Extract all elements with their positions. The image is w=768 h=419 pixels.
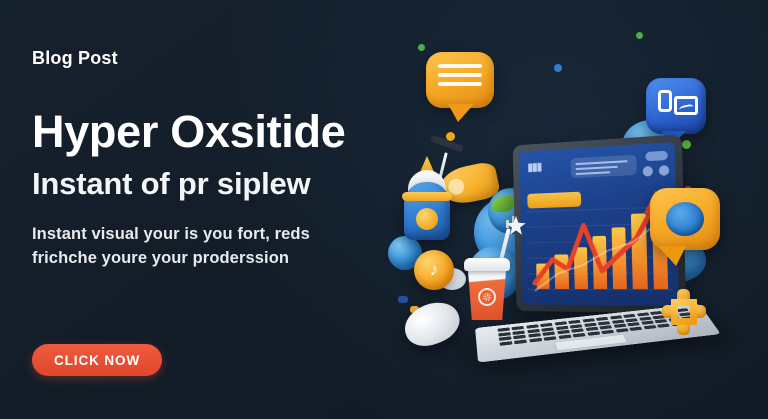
rocket-band <box>402 192 452 201</box>
coin-icon: ♪ <box>414 250 454 290</box>
confetti-dot <box>418 44 425 51</box>
coffee-cup-lid <box>464 258 510 271</box>
trend-polyline <box>533 203 658 283</box>
computer-mouse <box>399 295 466 353</box>
confetti-dot <box>398 296 408 303</box>
body-text: Instant visual your is you fort, reds fr… <box>32 223 402 271</box>
body-line-2: frichche youre your proderssion <box>32 249 289 267</box>
hero-illustration: ♪ ▮▮▮ <box>382 0 768 419</box>
body-line-1: Instant visual your is you fort, reds <box>32 225 310 243</box>
page-title: Hyper Oxsitide <box>32 108 402 155</box>
confetti-dot <box>554 64 562 72</box>
confetti-dot <box>636 32 643 39</box>
speech-lines-icon <box>438 64 482 91</box>
chart-card-icon <box>674 96 698 115</box>
dashboard-icon[interactable] <box>675 164 679 175</box>
click-now-button[interactable]: CLICK NOW <box>32 344 162 376</box>
subtitle: Instant of pr siplew <box>32 167 402 201</box>
phone-icon <box>658 90 672 112</box>
gear-ring <box>671 299 697 325</box>
coffee-cup-logo-icon <box>478 288 496 306</box>
copy-block: Blog Post Hyper Oxsitide Instant of pr s… <box>32 48 402 271</box>
promo-banner: Blog Post Hyper Oxsitide Instant of pr s… <box>0 0 768 419</box>
rocket-porthole <box>416 208 438 230</box>
eyebrow-label: Blog Post <box>32 48 402 70</box>
globe-glyph-icon <box>666 202 704 236</box>
gear-icon <box>660 288 708 336</box>
